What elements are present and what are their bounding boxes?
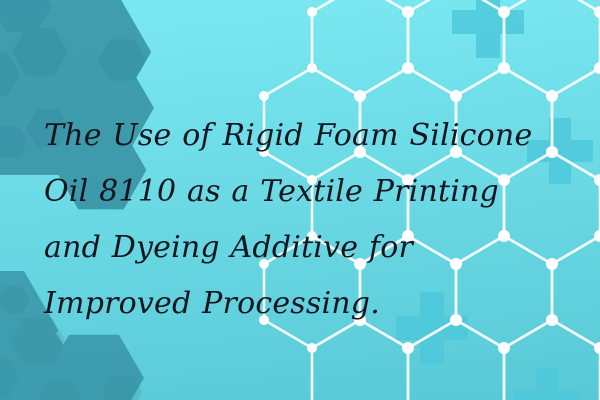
title-banner: The Use of Rigid Foam Silicone Oil 8110 … [0,0,600,400]
medical-cross-icon [514,368,580,400]
page-title: The Use of Rigid Foam Silicone Oil 8110 … [44,108,556,332]
medical-cross-icon [452,0,524,58]
title-block: The Use of Rigid Foam Silicone Oil 8110 … [44,108,556,332]
